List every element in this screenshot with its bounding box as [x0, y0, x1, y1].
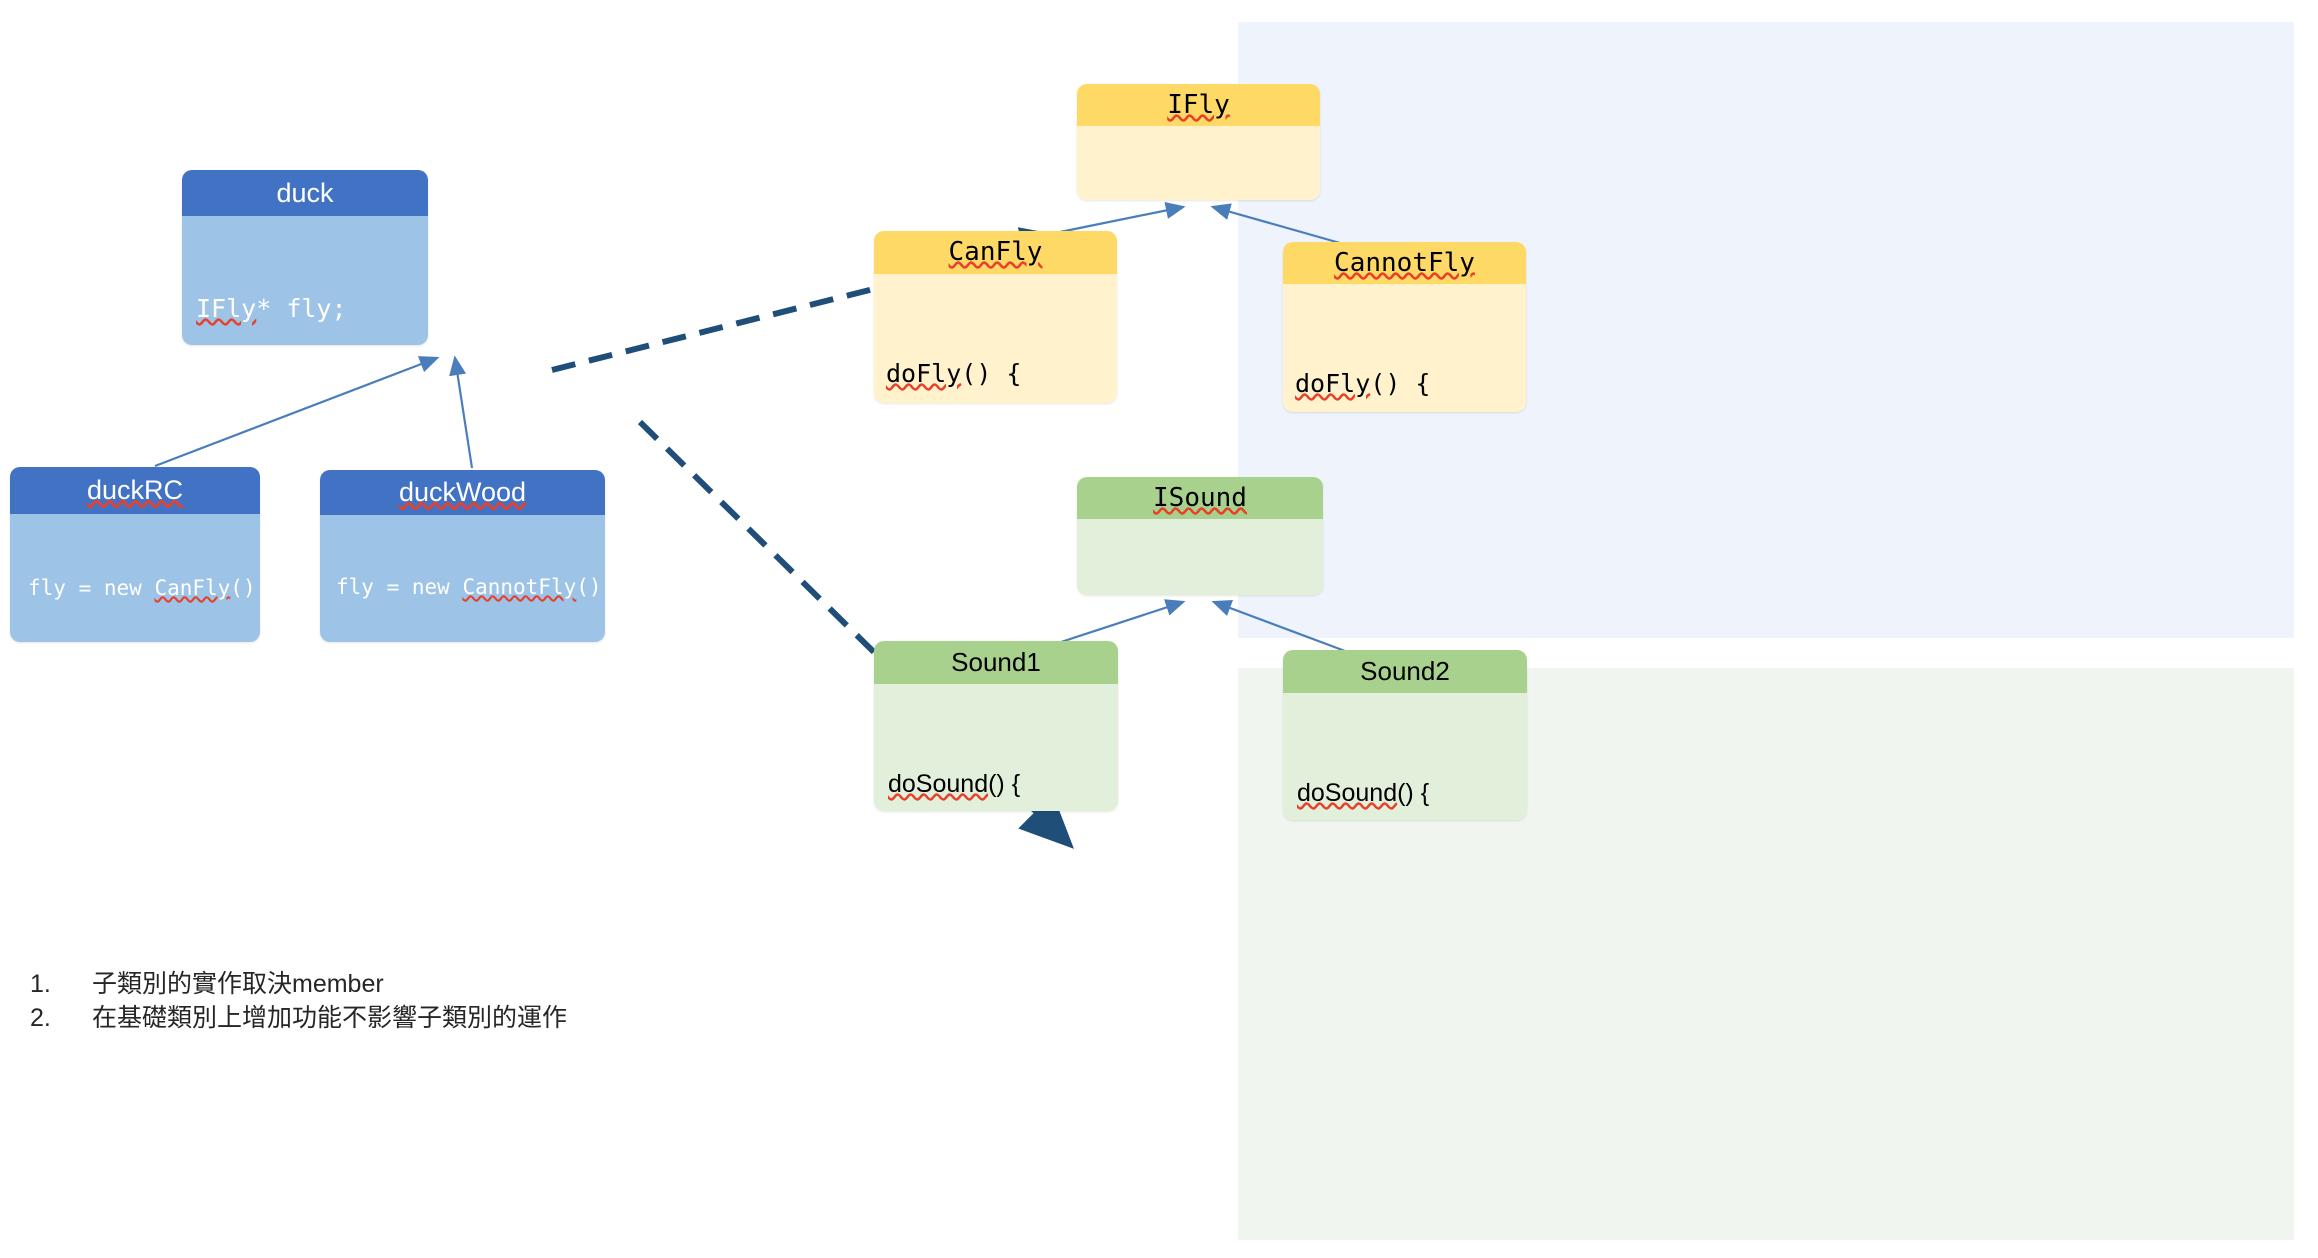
diagram-canvas: duck IFly* fly; Isound* sound; … duckRC … — [0, 0, 2318, 1258]
sound1-method-rest: () { — [988, 770, 1020, 798]
canfly-line1: doFly() { — [886, 358, 1117, 390]
list-item: 2. 在基礎類別上增加功能不影響子類別的運作 — [30, 1001, 790, 1035]
duckwood-code-suffix: () — [576, 575, 601, 599]
class-title-isound-text: ISound — [1153, 483, 1247, 513]
duckrc-code-prefix: fly = new — [28, 576, 154, 600]
class-members-sound1: doSound() { “Sound1” } — [874, 684, 1118, 811]
inheritance-duckwood-to-duck — [455, 358, 472, 468]
note-number: 1. — [30, 967, 92, 1001]
class-box-sound2[interactable]: Sound2 doSound() { “Sound2” } — [1283, 650, 1527, 820]
class-title-ifly-text: IFly — [1167, 90, 1230, 120]
class-members-isound: doSound() … — [1077, 519, 1323, 595]
class-title-duck: duck — [182, 170, 428, 216]
class-box-canfly[interactable]: CanFly doFly() { “Can fly” } — [874, 231, 1117, 403]
class-members-sound2: doSound() { “Sound2” } — [1283, 693, 1527, 820]
canfly-method-rest: () { — [961, 359, 1021, 388]
cannotfly-line1: doFly() { — [1295, 368, 1526, 400]
class-title-duckwood: duckWood — [320, 470, 605, 515]
class-members-cannotfly: doFly() { “Cannot fly” } — [1283, 284, 1526, 412]
method-dosound: doSound() — [1089, 593, 1323, 595]
note-text: 在基礎類別上增加功能不影響子類別的運作 — [92, 1001, 790, 1035]
inheritance-duckrc-to-duck — [155, 358, 437, 466]
class-box-cannotfly[interactable]: CannotFly doFly() { “Cannot fly” } — [1283, 242, 1526, 412]
duckwood-code-token: CannotFly — [462, 575, 576, 599]
notes-list: 1. 子類別的實作取決member 2. 在基礎類別上增加功能不影響子類別的運作 — [30, 967, 790, 1035]
class-title-cannotfly: CannotFly — [1283, 242, 1526, 284]
note-number: 2. — [30, 1001, 92, 1035]
class-box-isound[interactable]: ISound doSound() … — [1077, 477, 1323, 595]
cannotfly-method-rest: () { — [1370, 369, 1430, 398]
class-members-duckrc: fly = new CanFly() — [10, 514, 260, 642]
duckwood-code-prefix: fly = new — [336, 575, 462, 599]
class-title-canfly: CanFly — [874, 231, 1117, 274]
class-members-duck: IFly* fly; Isound* sound; … — [182, 216, 428, 345]
class-title-canfly-text: CanFly — [949, 237, 1043, 267]
class-title-cannotfly-text: CannotFly — [1334, 248, 1475, 278]
class-members-canfly: doFly() { “Can fly” } — [874, 274, 1117, 403]
class-box-duckwood[interactable]: duckWood fly = new CannotFly() — [320, 470, 605, 642]
method-dofly: doFly() — [1089, 198, 1320, 200]
sound2-method-token: doSound — [1297, 779, 1397, 807]
class-members-duckwood: fly = new CannotFly() — [320, 515, 605, 642]
class-box-duck[interactable]: duck IFly* fly; Isound* sound; … — [182, 170, 428, 345]
cannotfly-method-token: doFly — [1295, 369, 1370, 398]
class-title-duckrc: duckRC — [10, 467, 260, 514]
member-fly: IFly* fly; — [196, 292, 428, 325]
note-text: 子類別的實作取決member — [92, 967, 790, 1001]
sound1-line1: doSound() { — [888, 768, 1118, 800]
inheritance-sound1-to-isound — [1058, 602, 1183, 643]
canfly-method-token: doFly — [886, 359, 961, 388]
class-box-duckrc[interactable]: duckRC fly = new CanFly() — [10, 467, 260, 642]
sound1-method-token: doSound — [888, 770, 988, 798]
sound2-method-rest: () { — [1397, 779, 1429, 807]
sound2-line1: doSound() { — [1297, 777, 1527, 809]
class-box-ifly[interactable]: IFly doFly() … — [1077, 84, 1320, 200]
class-box-sound1[interactable]: Sound1 doSound() { “Sound1” } — [874, 641, 1118, 811]
type-token-ifly: IFly — [196, 294, 256, 323]
class-title-sound2: Sound2 — [1283, 650, 1527, 693]
member-fly-rest: * fly; — [256, 294, 346, 323]
class-title-ifly: IFly — [1077, 84, 1320, 126]
duckrc-code-token: CanFly — [154, 576, 230, 600]
class-title-isound: ISound — [1077, 477, 1323, 519]
duckrc-code-suffix: () — [230, 576, 255, 600]
list-item: 1. 子類別的實作取決member — [30, 967, 790, 1001]
class-title-sound1: Sound1 — [874, 641, 1118, 684]
inheritance-canfly-to-ifly — [1060, 207, 1183, 232]
class-members-ifly: doFly() … — [1077, 126, 1320, 200]
